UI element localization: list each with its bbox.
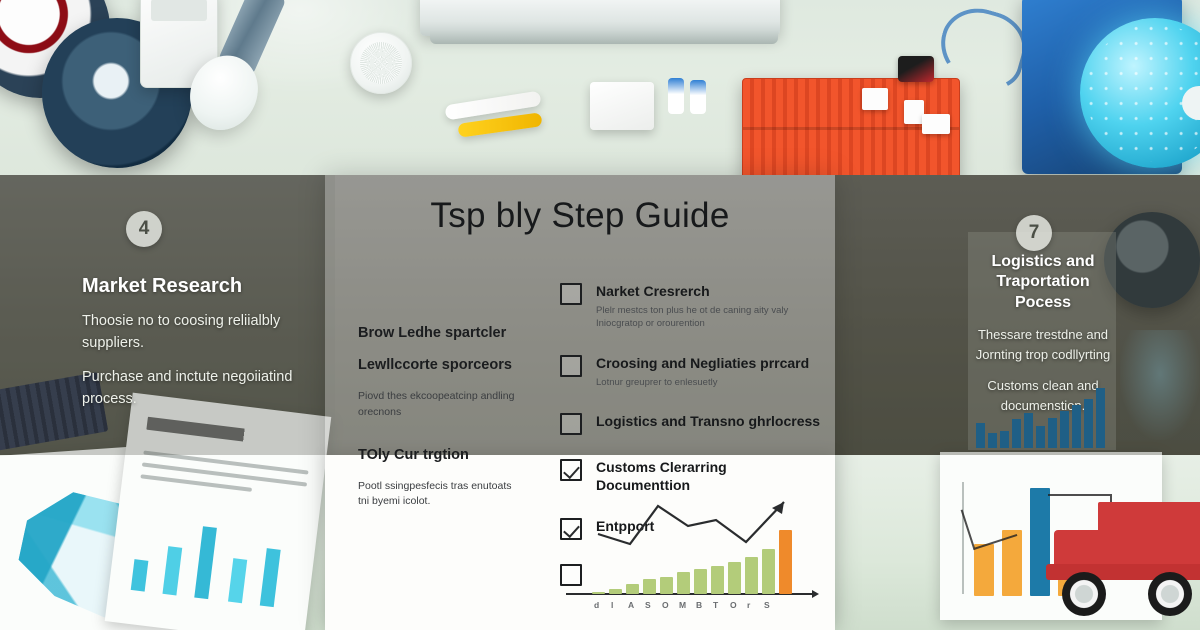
checkbox-import[interactable] (560, 518, 582, 540)
right-paragraph-1: Thessare trestdne and Jornting trop codl… (968, 325, 1118, 364)
chart-bar (1036, 426, 1045, 448)
laptop-base-icon (430, 30, 778, 44)
chart-bar (745, 557, 758, 595)
chart-bar-highlight (779, 530, 792, 594)
chart-tick-label: O (730, 600, 737, 610)
checklist-item[interactable]: Croosing and Negliaties prrcard Lotnur g… (560, 355, 822, 389)
checklist-label: Logistics and Transno ghrlocress (596, 413, 820, 431)
sub-heading-1: Brow Ledhe spartcler (358, 325, 523, 341)
chart-tick-label: O (662, 600, 669, 610)
checklist-item[interactable]: Customs Clerarring Documenttion (560, 459, 822, 494)
sub-body-3: Pootl ssingpesfecis tras enutoats tni by… (358, 479, 523, 511)
left-paragraph-1: Thoosie no to coosing reliialbly supplie… (82, 310, 312, 354)
chart-bar (592, 592, 605, 594)
chart-tick-label: r (747, 600, 750, 610)
step-badge-right: 7 (1016, 215, 1052, 251)
right-bar-chart (976, 386, 1110, 448)
chart-bar (1048, 418, 1057, 448)
chart-tick-label: B (696, 600, 702, 610)
left-paragraph-2: Purchase and inctute negoiiatind process… (82, 366, 312, 410)
shipping-tag-icon (904, 100, 924, 124)
screenshot-canvas: Tsp bly Step Guide 4 Market Research Tho… (0, 0, 1200, 630)
chart-bar (1024, 413, 1033, 448)
chart-bar (728, 562, 741, 594)
chart-tick-label: A (628, 600, 634, 610)
checklist-label: Croosing and Negliaties prrcard (596, 355, 809, 373)
blue-vial-icon (668, 78, 684, 114)
left-info-block: Market Research Thoosie no to coosing re… (82, 275, 312, 422)
desk-top-photo-band (0, 0, 1200, 180)
chart-bar (988, 433, 997, 448)
checklist-label: Narket Cresrerch (596, 283, 822, 301)
chart-bar (626, 584, 639, 594)
center-bar-chart: dlASOMBTOrS (566, 540, 818, 612)
sub-body-2: Piovd thes ekcoopeatcinp andling orecnon… (358, 389, 523, 421)
checklist-sublabel: Lotnur greuprer to enlesuetly (596, 376, 809, 390)
chart-bar (1060, 411, 1069, 448)
checkbox-market-research[interactable] (560, 283, 582, 305)
step-badge-left: 4 (126, 211, 162, 247)
chart-bar (1072, 405, 1081, 448)
checkbox-choosing-negotiating[interactable] (560, 355, 582, 377)
smoke-detector-icon (350, 32, 412, 94)
red-clip-icon (898, 56, 934, 82)
sub-heading-3: TOly Cur trgtion (358, 447, 523, 463)
chart-bar (976, 423, 985, 448)
right-heading-line2: Traportation Pocess (968, 272, 1118, 313)
chart-bar (1012, 419, 1021, 448)
checkbox-logistics-transport[interactable] (560, 413, 582, 435)
white-box-icon (590, 82, 654, 130)
chart-bar (609, 589, 622, 594)
chart-tick-label: S (645, 600, 651, 610)
spike-chart-icon (125, 512, 305, 610)
chart-bar (1096, 388, 1105, 448)
left-heading: Market Research (82, 275, 312, 298)
red-delivery-truck-icon (1040, 494, 1200, 620)
checklist-label: Customs Clerarring Documenttion (596, 459, 822, 494)
sub-heading-2: Lewllccorte sporceors (358, 357, 523, 373)
shipping-tag-icon (922, 114, 950, 134)
shipping-tag-icon (862, 88, 888, 110)
right-heading-line1: Logistics and (968, 252, 1118, 272)
chart-bar (1000, 431, 1009, 448)
page-title: Tsp bly Step Guide (325, 196, 835, 236)
checklist-item[interactable]: Logistics and Transno ghrlocress (560, 413, 822, 435)
chart-tick-label: l (611, 600, 613, 610)
chart-bar (1084, 399, 1093, 448)
checkbox-customs-clearing[interactable] (560, 459, 582, 481)
chart-tick-label: d (594, 600, 599, 610)
blue-vial-icon (690, 80, 706, 114)
chart-bar (643, 579, 656, 594)
chart-bar (694, 569, 707, 594)
chart-tick-label: M (679, 600, 686, 610)
chart-tick-label: S (764, 600, 770, 610)
chart-bar (660, 577, 673, 594)
checklist-item[interactable]: Narket Cresrerch Plelr mestcs ton plus h… (560, 283, 822, 331)
sub-column: Brow Ledhe spartcler Lewllccorte sporceo… (358, 325, 523, 536)
chart-tick-label: T (713, 600, 718, 610)
checklist-sublabel: Plelr mestcs ton plus he ot de caning ai… (596, 304, 822, 332)
chart-bar (677, 572, 690, 594)
chart-bar (762, 549, 775, 594)
chart-bar (711, 566, 724, 594)
